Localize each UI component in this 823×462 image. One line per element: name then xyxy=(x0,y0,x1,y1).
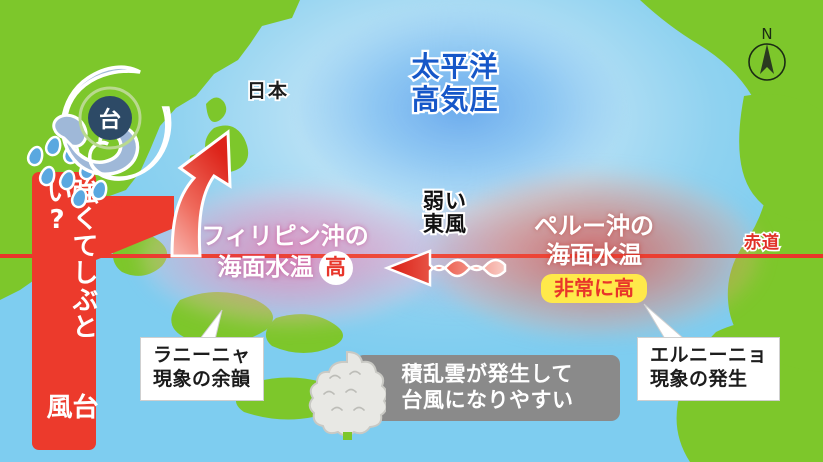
weak-east-wind-line-1: 弱い xyxy=(402,190,488,213)
cumulonimbus-note-box: 積乱雲が発生して 台風になりやすい xyxy=(355,355,620,421)
label-peru-sst: ペルー沖の 海面水温 非常に高 xyxy=(486,212,702,303)
callout-elnino-line-2: 現象の発生 xyxy=(650,368,767,392)
east-wind-arrow-icon xyxy=(355,243,510,293)
callout-lanina-line-1: ラニーニャ xyxy=(153,344,251,368)
callout-lanina: ラニーニャ 現象の余韻 xyxy=(140,337,264,401)
callout-elnino-line-1: エルニーニョ xyxy=(650,344,767,368)
pacific-high-line-1: 太平洋 xyxy=(370,50,540,83)
philippines-sst-badge: 高 xyxy=(319,251,353,285)
typhoon-track-arrow-icon xyxy=(150,120,280,260)
equator-label: 赤道 xyxy=(744,228,780,253)
label-pacific-high: 太平洋 高気圧 xyxy=(370,50,540,116)
peru-sst-line-2: 海面水温 xyxy=(486,241,702,270)
label-weak-east-wind: 弱い 東風 xyxy=(402,190,488,236)
cumulonimbus-note-line-1: 積乱雲が発生して xyxy=(402,362,574,388)
typhoon-banner-text: 台風 強くてしぶとい? xyxy=(32,178,96,446)
peru-sst-line-1: ペルー沖の xyxy=(486,212,702,241)
weak-east-wind-line-2: 東風 xyxy=(402,213,488,236)
weather-infographic: 赤道 N 日本 太平洋 高気圧 弱い 東風 フィリピン沖の 海面水温 高 ペルー… xyxy=(0,0,823,462)
label-japan: 日本 xyxy=(247,76,289,103)
banner-column-left: 強くてしぶとい? xyxy=(32,178,96,392)
callout-lanina-line-2: 現象の余韻 xyxy=(153,368,251,392)
pacific-high-line-2: 高気圧 xyxy=(370,83,540,116)
peru-sst-badge: 非常に高 xyxy=(541,274,647,303)
compass-north-letter: N xyxy=(761,25,772,43)
cumulonimbus-cloud-icon xyxy=(308,348,386,440)
cumulonimbus-note-text: 積乱雲が発生して 台風になりやすい xyxy=(402,362,574,413)
typhoon-symbol: 台 xyxy=(99,107,121,133)
callout-elnino: エルニーニョ 現象の発生 xyxy=(637,337,780,401)
cumulonimbus-note-line-2: 台風になりやすい xyxy=(402,388,574,414)
banner-column-right: 台風 xyxy=(32,393,96,446)
compass-rose: N xyxy=(742,22,792,84)
